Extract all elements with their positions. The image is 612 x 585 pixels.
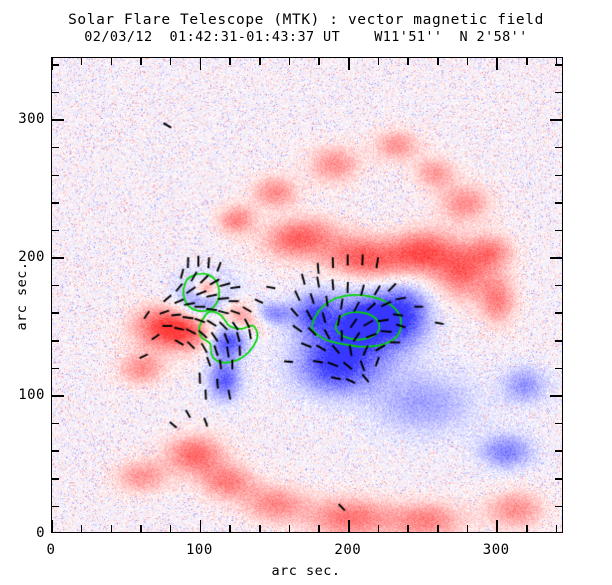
y-axis-tick (52, 119, 64, 121)
y-axis-tick (52, 92, 59, 94)
x-axis-tick (407, 58, 409, 65)
x-axis-tick (289, 525, 291, 532)
x-axis-tick (496, 520, 498, 532)
x-axis-tick (437, 58, 439, 65)
y-axis-tick (52, 340, 59, 342)
y-axis-tick (555, 285, 562, 287)
y-axis-tick (52, 395, 64, 397)
x-axis-tick-label: 100 (169, 542, 229, 558)
x-axis-title: arc sec. (0, 563, 612, 579)
y-axis-tick (52, 147, 59, 149)
y-axis-tick (555, 175, 562, 177)
x-axis-tick (407, 525, 409, 532)
x-axis-tick (289, 58, 291, 65)
y-axis-tick-label: 200 (0, 249, 45, 265)
x-axis-tick (111, 58, 113, 65)
x-axis-tick (200, 520, 202, 532)
y-axis-tick (52, 257, 64, 259)
y-axis-title: arc sec. (14, 256, 30, 336)
x-axis-tick (81, 58, 83, 65)
x-axis-tick (140, 58, 142, 65)
x-axis-tick (496, 58, 498, 70)
y-axis-tick (555, 340, 562, 342)
x-axis-tick (229, 58, 231, 65)
x-axis-tick (556, 525, 558, 532)
x-axis-tick (51, 520, 53, 532)
x-axis-tick (437, 525, 439, 532)
y-axis-tick (550, 119, 562, 121)
y-axis-tick (52, 423, 59, 425)
y-axis-tick (555, 147, 562, 149)
x-axis-tick (467, 58, 469, 65)
x-axis-tick (526, 58, 528, 65)
y-axis-tick (52, 64, 59, 66)
y-axis-tick-label: 100 (0, 387, 45, 403)
x-axis-tick (170, 525, 172, 532)
y-axis-tick (555, 64, 562, 66)
y-axis-tick (555, 506, 562, 508)
x-axis-tick (526, 525, 528, 532)
page-title: Solar Flare Telescope (MTK) : vector mag… (0, 12, 612, 29)
y-axis-tick (52, 506, 59, 508)
y-axis-tick (52, 230, 59, 232)
x-axis-tick (348, 520, 350, 532)
y-axis-tick (52, 285, 59, 287)
x-axis-tick (259, 525, 261, 532)
y-axis-tick (52, 175, 59, 177)
y-axis-tick (555, 312, 562, 314)
x-axis-tick (81, 525, 83, 532)
y-axis-tick (555, 202, 562, 204)
y-axis-tick (555, 230, 562, 232)
y-axis-tick (52, 368, 59, 370)
x-axis-tick (200, 58, 202, 70)
x-axis-tick (259, 58, 261, 65)
figure-title-block: Solar Flare Telescope (MTK) : vector mag… (0, 12, 612, 46)
y-axis-tick (52, 202, 59, 204)
y-axis-tick (555, 92, 562, 94)
y-axis-tick-label: 300 (0, 111, 45, 127)
y-axis-tick (52, 478, 59, 480)
x-axis-tick (318, 58, 320, 65)
magnetogram-canvas (52, 58, 562, 532)
y-axis-tick (555, 368, 562, 370)
solar-magnetogram-figure: Solar Flare Telescope (MTK) : vector mag… (0, 0, 612, 585)
y-axis-tick (555, 478, 562, 480)
x-axis-tick (229, 525, 231, 532)
x-axis-tick (111, 525, 113, 532)
x-axis-tick-label: 200 (318, 542, 378, 558)
y-axis-tick (550, 257, 562, 259)
y-axis-tick-label: 0 (0, 525, 45, 541)
y-axis-tick (550, 395, 562, 397)
x-axis-tick-label: 0 (21, 542, 81, 558)
x-axis-tick (318, 525, 320, 532)
y-axis-tick (555, 450, 562, 452)
x-axis-tick (348, 58, 350, 70)
y-axis-tick (555, 423, 562, 425)
observation-info: 02/03/12 01:42:31-01:43:37 UT W11'51'' N… (0, 29, 612, 46)
x-axis-tick-label: 300 (466, 542, 526, 558)
x-axis-tick (378, 58, 380, 65)
y-axis-tick (52, 312, 59, 314)
x-axis-tick (140, 525, 142, 532)
x-axis-tick (467, 525, 469, 532)
x-axis-tick (170, 58, 172, 65)
plot-area (51, 57, 563, 533)
y-axis-tick (52, 450, 59, 452)
x-axis-tick (378, 525, 380, 532)
